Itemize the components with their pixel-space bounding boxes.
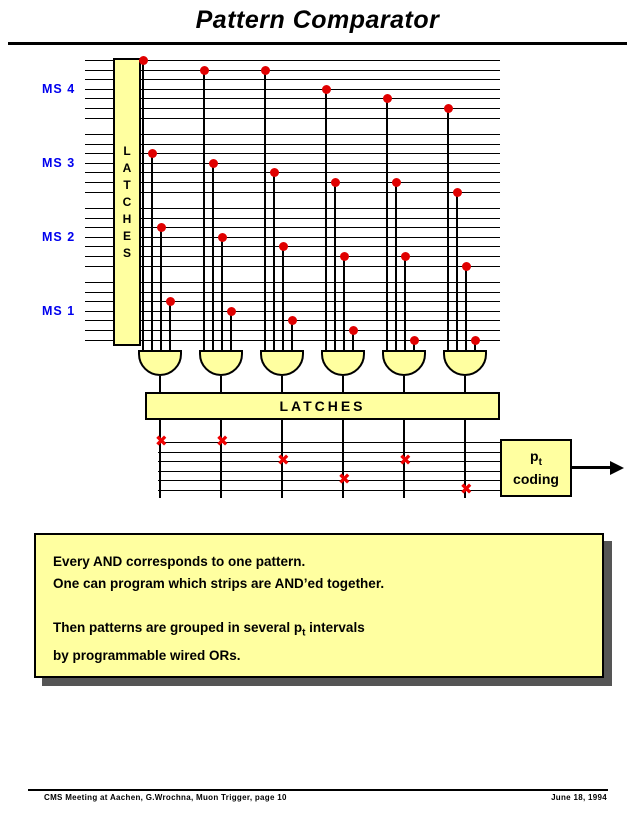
and-input-wire: [203, 70, 205, 350]
note-spacer: [53, 595, 602, 617]
input-latches-block: LATCHES: [113, 58, 141, 346]
page-title: Pattern Comparator: [0, 6, 635, 35]
note-line-3: Then patterns are grouped in several pt …: [53, 617, 602, 645]
and-input-wire: [282, 246, 284, 350]
input-latches-letter-5: E: [123, 228, 131, 245]
note-line-4: by programmable wired ORs.: [53, 645, 602, 667]
and-input-wire: [343, 256, 345, 350]
or-row-wire: [158, 471, 502, 472]
and-gate-output-wire: [464, 376, 466, 392]
footer-divider: [28, 789, 608, 791]
and-input-wire: [404, 256, 406, 350]
strip-line: [85, 108, 500, 109]
pattern-program-dot[interactable]: [462, 262, 471, 271]
strip-line: [85, 292, 500, 293]
title-divider: [8, 42, 627, 45]
note-box: Every AND corresponds to one pattern. On…: [34, 533, 604, 678]
pattern-program-dot[interactable]: [331, 178, 340, 187]
and-gate: [443, 350, 487, 376]
or-row-wire: [158, 480, 502, 481]
strip-line: [85, 182, 500, 183]
or-program-cross[interactable]: ✖: [338, 472, 351, 487]
ms-label-ms-4: MS 4: [42, 82, 75, 96]
strip-line: [85, 192, 500, 193]
and-input-wire: [386, 98, 388, 350]
input-latches-letter-4: H: [123, 211, 132, 228]
pattern-program-dot[interactable]: [209, 159, 218, 168]
or-program-cross[interactable]: ✖: [460, 482, 473, 497]
and-gate: [199, 350, 243, 376]
pattern-program-dot[interactable]: [471, 336, 480, 345]
pt-output-arrow-line: [572, 466, 612, 469]
and-input-wire: [264, 70, 266, 350]
and-gate-output-wire: [220, 376, 222, 392]
strip-line: [85, 311, 500, 312]
and-input-wire: [395, 182, 397, 350]
pt-output-arrow-head: [610, 461, 624, 475]
ms-label-ms-2: MS 2: [42, 230, 75, 244]
pattern-program-dot[interactable]: [410, 336, 419, 345]
strip-line: [85, 134, 500, 135]
and-input-wire: [456, 192, 458, 350]
or-row-wire: [158, 452, 502, 453]
and-input-wire: [465, 266, 467, 350]
strip-line: [85, 70, 500, 71]
output-latches-bar: LATCHES: [145, 392, 500, 420]
ms-label-ms-3: MS 3: [42, 156, 75, 170]
and-gate: [260, 350, 304, 376]
input-latches-letter-1: A: [123, 160, 132, 177]
pattern-program-dot[interactable]: [401, 252, 410, 261]
pattern-program-dot[interactable]: [444, 104, 453, 113]
pattern-program-dot[interactable]: [349, 326, 358, 335]
strip-line: [85, 144, 500, 145]
and-input-wire: [151, 153, 153, 350]
pattern-program-dot[interactable]: [139, 56, 148, 65]
and-input-wire: [325, 89, 327, 350]
and-gate: [321, 350, 365, 376]
strip-line: [85, 282, 500, 283]
and-input-wire: [169, 301, 171, 350]
pattern-program-dot[interactable]: [392, 178, 401, 187]
pattern-program-dot[interactable]: [166, 297, 175, 306]
pt-coding-label-bottom: coding: [513, 471, 559, 488]
ms-label-ms-1: MS 1: [42, 304, 75, 318]
strip-line: [85, 163, 500, 164]
input-latches-letter-0: L: [123, 143, 130, 160]
strip-line: [85, 246, 500, 247]
pt-coding-label-top: pt: [530, 448, 542, 471]
input-latches-letter-3: C: [123, 194, 132, 211]
footer-right-text: June 18, 1994: [551, 793, 607, 802]
strip-line: [85, 227, 500, 228]
strip-line: [85, 256, 500, 257]
pattern-program-dot[interactable]: [200, 66, 209, 75]
pattern-program-dot[interactable]: [383, 94, 392, 103]
strip-line: [85, 266, 500, 267]
or-row-wire: [158, 461, 502, 462]
or-program-cross[interactable]: ✖: [277, 453, 290, 468]
pattern-program-dot[interactable]: [453, 188, 462, 197]
strip-line: [85, 301, 500, 302]
pattern-program-dot[interactable]: [340, 252, 349, 261]
pattern-program-dot[interactable]: [279, 242, 288, 251]
pattern-program-dot[interactable]: [288, 316, 297, 325]
pt-coding-box: pt coding: [500, 439, 572, 497]
strip-line: [85, 89, 500, 90]
input-latches-letter-6: S: [123, 245, 131, 262]
and-gate-output-wire: [159, 376, 161, 392]
and-input-wire: [447, 108, 449, 350]
and-gate: [138, 350, 182, 376]
input-latches-letter-2: T: [123, 177, 130, 194]
strip-line: [85, 118, 500, 119]
and-input-wire: [212, 163, 214, 350]
pattern-program-dot[interactable]: [148, 149, 157, 158]
strip-line: [85, 218, 500, 219]
and-input-wire: [221, 237, 223, 350]
or-program-cross[interactable]: ✖: [155, 434, 168, 449]
or-program-cross[interactable]: ✖: [399, 453, 412, 468]
pattern-program-dot[interactable]: [157, 223, 166, 232]
pattern-program-dot[interactable]: [322, 85, 331, 94]
and-input-wire: [273, 172, 275, 350]
strip-line: [85, 98, 500, 99]
footer-left-text: CMS Meeting at Aachen, G.Wrochna, Muon T…: [44, 793, 287, 802]
and-input-wire: [334, 182, 336, 350]
and-input-wire: [160, 227, 162, 350]
or-program-cross[interactable]: ✖: [216, 434, 229, 449]
strip-line: [85, 172, 500, 173]
strip-line: [85, 208, 500, 209]
and-gate-output-wire: [281, 376, 283, 392]
and-gate: [382, 350, 426, 376]
note-line-1: Every AND corresponds to one pattern.: [53, 551, 602, 573]
and-input-wire: [230, 311, 232, 350]
note-line-2: One can program which strips are AND’ed …: [53, 573, 602, 595]
pattern-comparator-diagram: MS 4MS 3MS 2MS 1 LATCHES LATCHES ✖✖✖✖✖✖ …: [0, 52, 635, 522]
strip-line: [85, 79, 500, 80]
pattern-program-dot[interactable]: [261, 66, 270, 75]
pattern-program-dot[interactable]: [218, 233, 227, 242]
strip-line: [85, 237, 500, 238]
and-gate-output-wire: [403, 376, 405, 392]
pattern-program-dot[interactable]: [227, 307, 236, 316]
or-row-wire: [158, 490, 502, 491]
and-gate-output-wire: [342, 376, 344, 392]
pattern-program-dot[interactable]: [270, 168, 279, 177]
or-row-wire: [158, 442, 502, 443]
and-input-wire: [142, 60, 144, 350]
